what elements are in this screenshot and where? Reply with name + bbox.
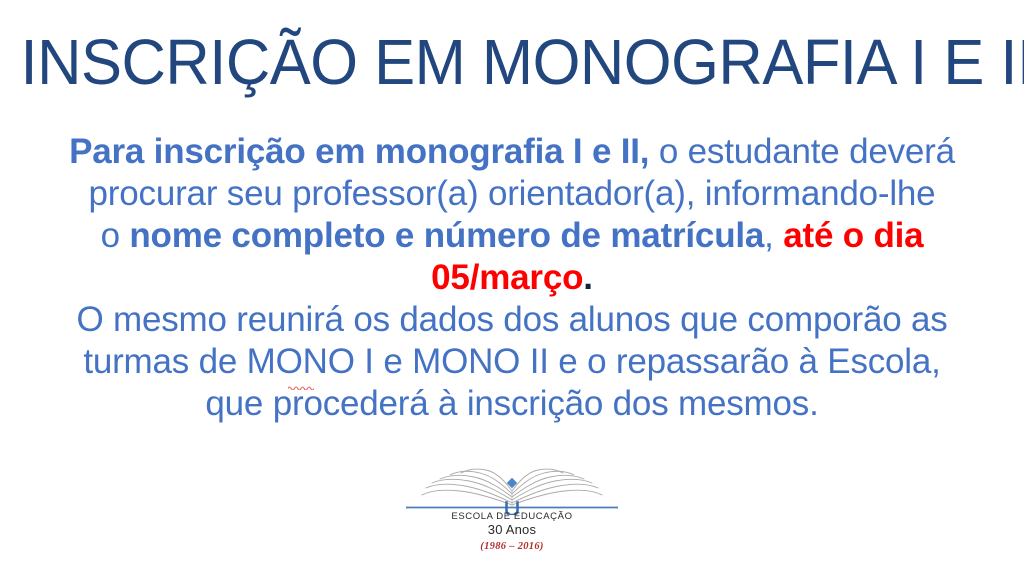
- body-line-1-rest: o estudante deverá: [649, 132, 955, 171]
- body-text-block: Para inscrição em monografia I e II, o e…: [52, 131, 972, 425]
- body-line-6-rest: I e MONO II e o repassarão à Escola,: [355, 342, 941, 381]
- body-line-6-lead: turmas de: [83, 342, 246, 381]
- logo-org-name: ESCOLA DE EDUCAÇÃO: [392, 512, 632, 522]
- body-line-5: O mesmo reunirá os dados dos alunos que …: [52, 299, 972, 341]
- body-line-4: 05/março.: [52, 257, 972, 299]
- page-title: INSCRIÇÃO EM MONOGRAFIA I E II: [20, 26, 1003, 98]
- body-line-7: que procederá à inscrição dos mesmos.: [52, 383, 972, 425]
- deadline-date: 05/março: [431, 258, 583, 297]
- body-line-3: o nome completo e número de matrícula, a…: [52, 215, 972, 257]
- logo-years: (1986 – 2016): [392, 541, 632, 552]
- body-line-3-lead: o: [101, 216, 130, 255]
- logo-caption: ESCOLA DE EDUCAÇÃO 30 Anos (1986 – 2016): [392, 512, 632, 553]
- body-line-3-comma: ,: [764, 216, 783, 255]
- body-line-1: Para inscrição em monografia I e II, o e…: [52, 131, 972, 173]
- misspelled-word-mono: MONO: [247, 341, 355, 383]
- body-line-2: procurar seu professor(a) orientador(a),…: [52, 173, 972, 215]
- body-line-4-period: .: [583, 258, 593, 297]
- body-line-3-bold: nome completo e número de matrícula: [129, 216, 764, 255]
- body-line-1-bold: Para inscrição em monografia I e II,: [69, 132, 649, 171]
- logo-anniversary: 30 Anos: [392, 523, 632, 537]
- school-logo: ESCOLA DE EDUCAÇÃO 30 Anos (1986 – 2016): [392, 463, 632, 559]
- open-book-icon: [392, 463, 632, 515]
- body-line-6: turmas de MONO I e MONO II e o repassarã…: [52, 341, 972, 383]
- body-line-3-deadline: até o dia: [783, 216, 923, 255]
- slide-canvas: INSCRIÇÃO EM MONOGRAFIA I E II Para insc…: [0, 0, 1024, 563]
- body-line-6-mono: MONO: [247, 342, 355, 381]
